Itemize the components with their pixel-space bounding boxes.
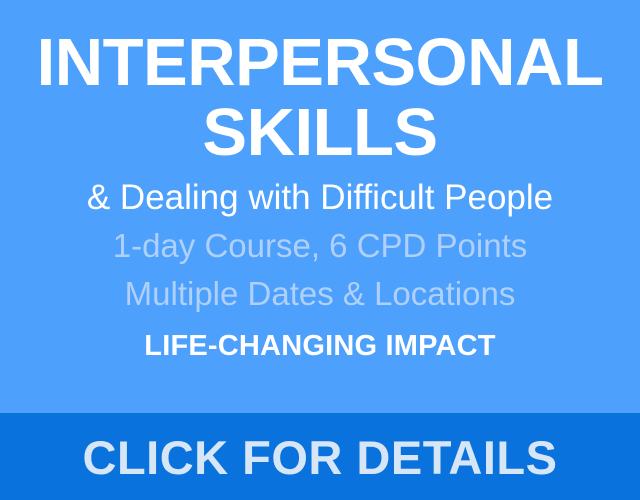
course-duration-detail: 1-day Course, 6 CPD Points [0, 224, 640, 268]
cta-label[interactable]: CLICK FOR DETAILS [83, 432, 558, 484]
course-availability-detail: Multiple Dates & Locations [0, 272, 640, 316]
headline-line-secondary: SKILLS [0, 96, 640, 170]
call-to-action-bar[interactable]: CLICK FOR DETAILS [0, 413, 640, 500]
course-advertisement-banner[interactable]: INTERPERSONAL SKILLS & Dealing with Diff… [0, 0, 640, 500]
banner-subheading: & Dealing with Difficult People [0, 176, 640, 220]
banner-content-panel: INTERPERSONAL SKILLS & Dealing with Diff… [0, 0, 640, 413]
headline-line-primary: INTERPERSONAL [0, 26, 640, 100]
impact-statement: LIFE-CHANGING IMPACT [0, 327, 640, 365]
